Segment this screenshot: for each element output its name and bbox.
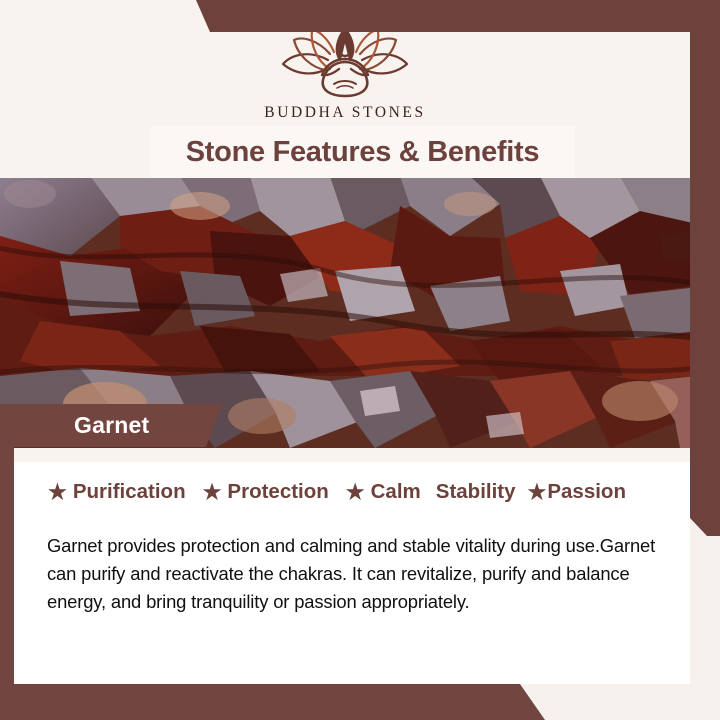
feature-item-protection: ★ Protection — [203, 480, 329, 504]
feature-item-stability: Stability — [436, 480, 516, 504]
feature-label: Stability — [436, 480, 516, 504]
stone-description: Garnet provides protection and calming a… — [47, 532, 687, 615]
left-frame-bar — [0, 440, 14, 700]
feature-list: ★ Purification ★ Protection ★ Calm Stabi… — [48, 480, 688, 504]
feature-item-passion: ★ Passion — [528, 480, 626, 504]
lotus-meditation-icon — [270, 26, 420, 98]
content-card: ★ Purification ★ Protection ★ Calm Stabi… — [14, 448, 690, 686]
title-band: Stone Features & Benefits — [150, 126, 575, 178]
brand-name: BUDDHA STONES — [264, 104, 425, 122]
feature-label: Calm — [371, 480, 421, 504]
star-icon: ★ — [528, 482, 547, 503]
star-icon: ★ — [203, 482, 222, 503]
stone-info-card: BUDDHA STONES — [0, 0, 720, 720]
star-icon: ★ — [48, 482, 67, 503]
star-icon: ★ — [346, 482, 365, 503]
brand-logo: BUDDHA STONES — [0, 26, 690, 122]
content-top-tint — [14, 448, 690, 462]
feature-label: Passion — [547, 480, 626, 504]
page-title: Stone Features & Benefits — [186, 136, 539, 169]
right-frame-bar — [690, 0, 720, 536]
feature-item-calm: ★ Calm — [346, 480, 421, 504]
feature-label: Purification — [73, 480, 186, 504]
stone-name: Garnet — [74, 412, 149, 439]
stone-name-banner: Garnet — [0, 404, 222, 447]
feature-item-purification: ★ Purification — [48, 480, 186, 504]
feature-label: Protection — [227, 480, 328, 504]
